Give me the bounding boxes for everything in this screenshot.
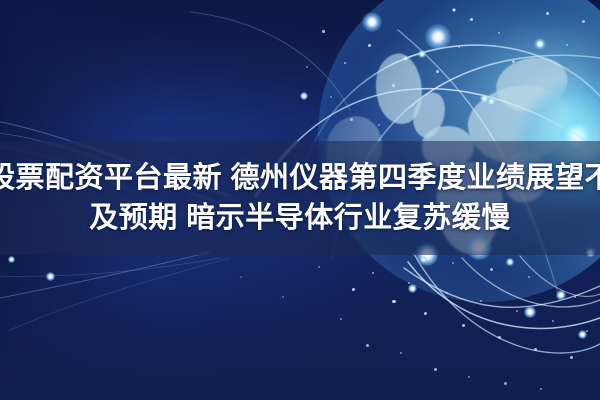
star-particle bbox=[566, 44, 568, 46]
page-title: 股票配资平台最新 德州仪器第四季度业绩展望不 及预期 暗示半导体行业复苏缓慢 bbox=[0, 141, 600, 255]
star-particle bbox=[392, 300, 396, 303]
star-particle bbox=[400, 352, 402, 354]
network-node bbox=[556, 290, 566, 300]
star-particle bbox=[434, 368, 437, 371]
network-node bbox=[420, 256, 427, 263]
star-particle bbox=[344, 62, 346, 64]
star-particle bbox=[425, 24, 451, 50]
star-particle bbox=[534, 348, 537, 351]
network-node bbox=[418, 50, 426, 58]
star-particle bbox=[424, 312, 427, 315]
network-node bbox=[578, 330, 587, 339]
star-particle bbox=[368, 44, 371, 47]
star-particle bbox=[403, 56, 408, 61]
star-particle bbox=[480, 300, 482, 302]
star-particle bbox=[540, 388, 542, 390]
star-particle bbox=[436, 70, 439, 73]
star-particle bbox=[366, 344, 369, 347]
news-banner-image: 股票配资平台最新 德州仪器第四季度业绩展望不 及预期 暗示半导体行业复苏缓慢 bbox=[0, 0, 600, 400]
star-particle bbox=[512, 60, 515, 63]
background-bottom-shade bbox=[0, 250, 600, 400]
network-node bbox=[8, 256, 15, 263]
star-particle bbox=[552, 320, 554, 322]
star-particle bbox=[282, 296, 284, 298]
star-particle bbox=[574, 296, 576, 298]
star-particle bbox=[452, 262, 454, 264]
star-particle bbox=[498, 32, 500, 34]
star-particle bbox=[458, 46, 460, 48]
star-particle bbox=[504, 382, 507, 385]
star-particle bbox=[446, 292, 448, 294]
network-node bbox=[300, 92, 308, 100]
star-particle bbox=[392, 84, 395, 87]
star-particle bbox=[452, 8, 456, 12]
star-particle bbox=[462, 324, 465, 327]
star-particle bbox=[350, 118, 353, 121]
star-particle bbox=[470, 18, 473, 21]
star-particle bbox=[372, 272, 374, 274]
network-node bbox=[506, 258, 514, 266]
star-particle bbox=[412, 104, 414, 106]
star-particle bbox=[352, 288, 355, 291]
star-particle bbox=[318, 266, 320, 268]
star-particle bbox=[498, 336, 501, 339]
star-particle bbox=[534, 38, 546, 50]
star-particle bbox=[582, 20, 585, 23]
network-node bbox=[480, 94, 489, 103]
star-particle bbox=[516, 310, 518, 312]
star-particle bbox=[330, 96, 332, 98]
headline-line-1: 股票配资平台最新 德州仪器第四季度业绩展望不 bbox=[0, 159, 600, 197]
star-particle bbox=[546, 12, 549, 15]
star-particle bbox=[362, 12, 382, 32]
star-particle bbox=[322, 30, 325, 33]
star-particle bbox=[306, 66, 308, 68]
network-node bbox=[46, 272, 55, 281]
headline-line-2: 及预期 暗示半导体行业复苏缓慢 bbox=[89, 199, 511, 237]
star-particle bbox=[528, 276, 530, 278]
star-particle bbox=[468, 376, 470, 378]
star-particle bbox=[570, 356, 573, 359]
star-particle bbox=[378, 124, 380, 126]
network-node bbox=[524, 306, 536, 318]
star-particle bbox=[490, 268, 493, 271]
star-particle bbox=[340, 318, 342, 320]
star-particle bbox=[240, 276, 242, 278]
network-node bbox=[408, 284, 417, 293]
